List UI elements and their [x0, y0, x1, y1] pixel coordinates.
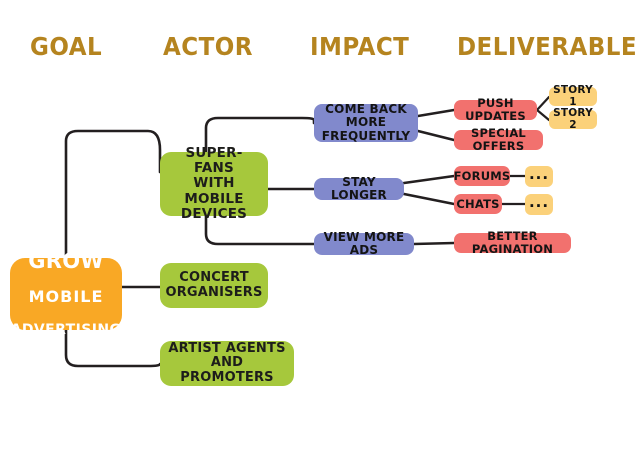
story-node-chats-more[interactable]: ...	[525, 194, 553, 215]
actor-node-super-fans[interactable]: SUPER-FANS WITH MOBILE DEVICES	[160, 152, 268, 216]
column-header-actor: ACTOR	[163, 32, 253, 61]
column-header-goal: GOAL	[30, 32, 102, 61]
goal-node-grow-mobile-advertising[interactable]: GROW MOBILE ADVERTISING	[10, 258, 122, 330]
deliverable-node-forums[interactable]: FORUMS	[454, 166, 510, 186]
link-push-story1	[537, 97, 549, 110]
link-comeback-push	[418, 110, 454, 116]
impact-map-canvas: GOAL ACTOR IMPACT DELIVERABLE GROW MOBIL…	[0, 0, 640, 465]
story-node-forums-more[interactable]: ...	[525, 166, 553, 187]
story-node-story-1[interactable]: STORY 1	[549, 87, 597, 106]
impact-node-stay-longer[interactable]: STAY LONGER	[314, 178, 404, 200]
impact-node-view-more-ads[interactable]: VIEW MORE ADS	[314, 233, 414, 255]
column-header-deliverable: DELIVERABLE	[457, 32, 637, 61]
link-staylonger-forums	[404, 176, 454, 183]
story-node-story-2[interactable]: STORY 2	[549, 110, 597, 129]
goal-line-2: MOBILE	[11, 289, 122, 306]
actor-node-concert-organisers[interactable]: CONCERT ORGANISERS	[160, 263, 268, 308]
goal-line-1: GROW	[11, 250, 122, 272]
deliverable-node-special-offers[interactable]: SPECIAL OFFERS	[454, 130, 543, 150]
deliverable-node-better-pagination[interactable]: BETTER PAGINATION	[454, 233, 571, 253]
link-comeback-special	[418, 131, 454, 140]
link-staylonger-chats	[404, 194, 454, 204]
goal-line-3: ADVERTISING	[11, 323, 122, 338]
link-push-story2	[537, 110, 549, 120]
deliverable-node-push-updates[interactable]: PUSH UPDATES	[454, 100, 537, 120]
link-viewads-pagination	[414, 243, 454, 244]
deliverable-node-chats[interactable]: CHATS	[454, 194, 502, 214]
impact-node-come-back-more-frequently[interactable]: COME BACK MORE FREQUENTLY	[314, 104, 418, 142]
actor-node-artist-agents[interactable]: ARTIST AGENTS AND PROMOTERS	[160, 341, 294, 386]
column-header-impact: IMPACT	[310, 32, 409, 61]
